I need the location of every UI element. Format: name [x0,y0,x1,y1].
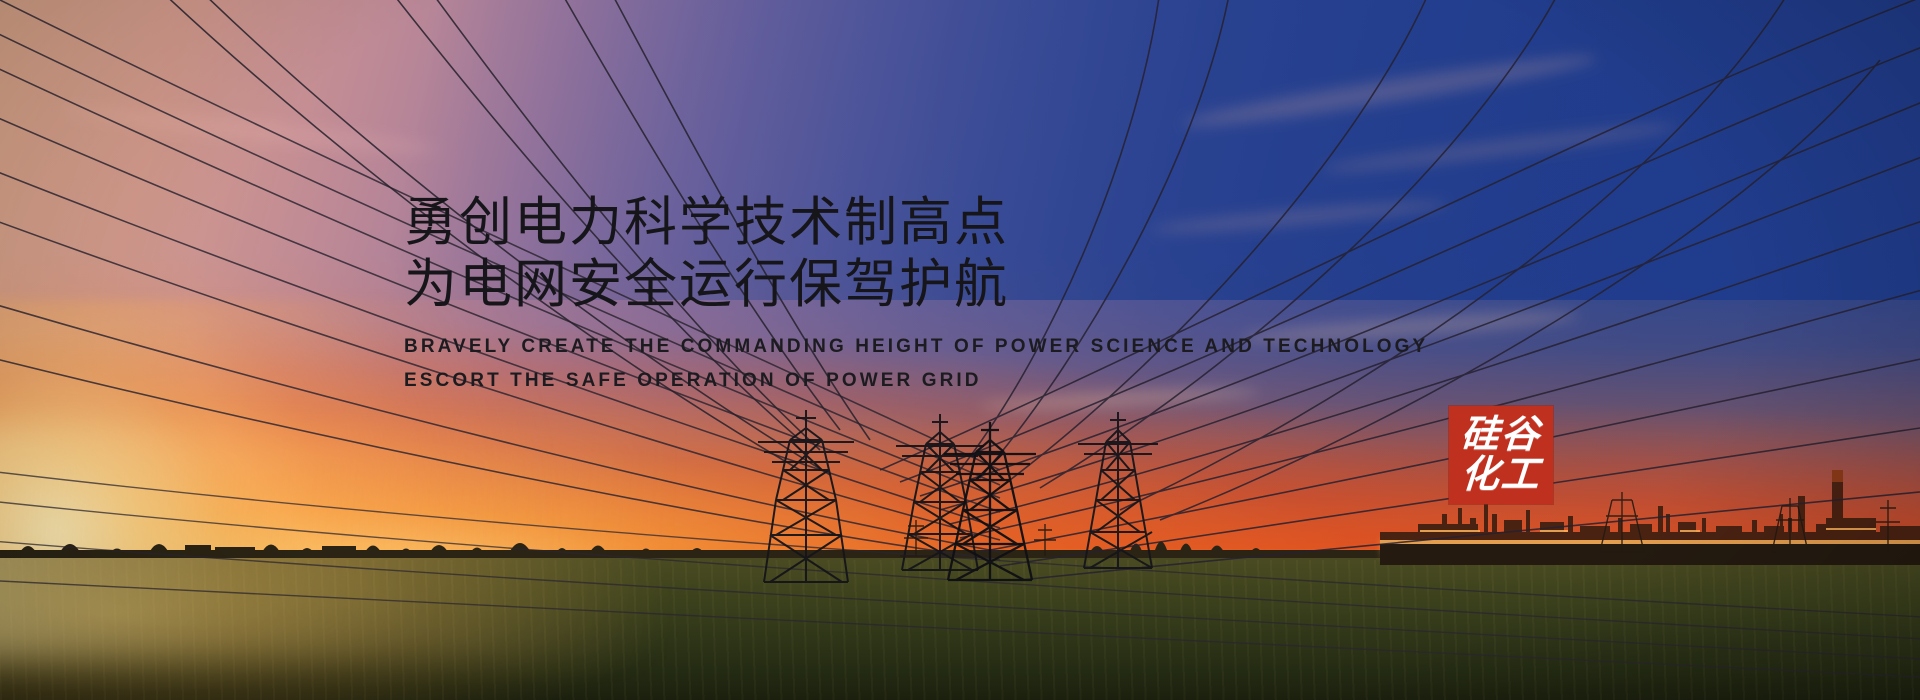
subtitle-line-1: BRAVELY CREATE THE COMMANDING HEIGHT OF … [404,330,1464,364]
subtitle-line-2: ESCORT THE SAFE OPERATION OF POWER GRID [404,364,1464,398]
logo-text-line-2: 化工 [1460,455,1543,495]
hero-banner: 勇创电力科学技术制高点 为电网安全运行保驾护航 BRAVELY CREATE T… [0,0,1920,700]
headline-line-2: 为电网安全运行保驾护航 [404,254,1464,316]
company-logo-stamp[interactable]: 硅谷 化工 [1449,406,1553,504]
banner-copy: 勇创电力科学技术制高点 为电网安全运行保驾护航 BRAVELY CREATE T… [404,192,1464,398]
logo-text-line-1: 硅谷 [1460,415,1543,455]
headline-line-1: 勇创电力科学技术制高点 [404,192,1464,254]
